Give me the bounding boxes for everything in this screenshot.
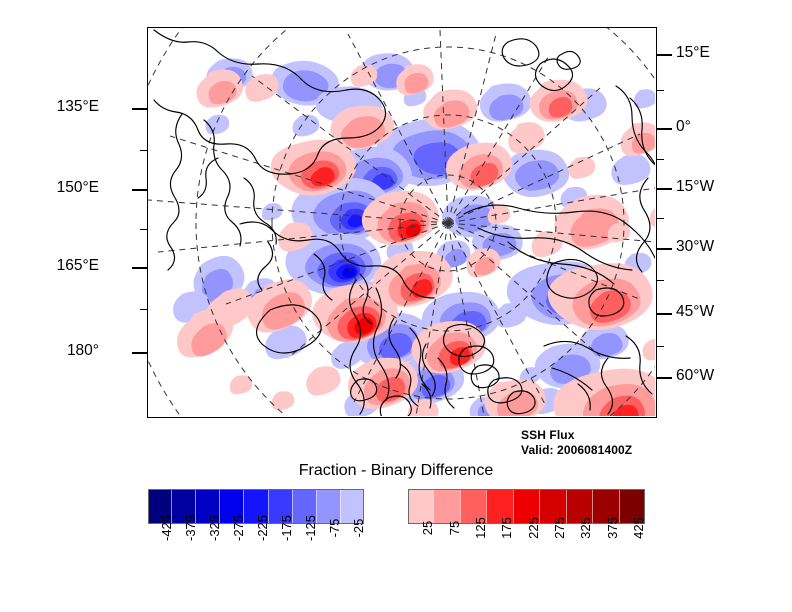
colorbar-positive-tick-7: 375: [606, 517, 619, 539]
colorbar: [148, 489, 645, 524]
axis-tick-right-0: [657, 54, 672, 56]
colorbar-negative-tick-4: -225: [256, 515, 269, 541]
axis-label-left-150e: 150°E: [57, 180, 99, 196]
colorbar-positive-tick-2: 125: [474, 517, 487, 539]
axis-label-right-60w: 60°W: [676, 368, 714, 384]
colorbar-positive-swatch-0: [408, 489, 433, 524]
axis-label-left-165e: 165°E: [57, 258, 99, 274]
colorbar-positive-tick-3: 175: [500, 517, 513, 539]
axis-tick-right-3: [657, 248, 672, 250]
figure-root: 135°E 150°E 165°E 180° 15°E 0° 15°W 30°W…: [0, 0, 792, 612]
figure-caption: Fraction - Binary Difference: [0, 462, 792, 480]
map-svg: [148, 28, 655, 416]
axis-tick-minor-left-2: [140, 309, 147, 310]
axis-tick-left-1: [132, 189, 147, 191]
colorbar-tick-labels: -425-375-325-275-225-175-125-75-25257512…: [148, 528, 645, 588]
axis-label-left-135e: 135°E: [57, 99, 99, 115]
colorbar-negative-tick-8: -25: [352, 519, 365, 538]
axis-label-right-30w: 30°W: [676, 239, 714, 255]
colorbar-positive-tick-0: 25: [421, 521, 434, 535]
colorbar-negative-tick-6: -125: [304, 515, 317, 541]
colorbar-positive-tick-8: 425: [632, 517, 645, 539]
field-annotation: SSH Flux Valid: 2006081400Z: [521, 428, 632, 458]
axis-tick-right-2: [657, 188, 672, 190]
colorbar-negative-tick-7: -75: [328, 519, 341, 538]
axis-tick-right-5: [657, 377, 672, 379]
field-name: SSH Flux: [521, 428, 632, 443]
colorbar-negative-tick-5: -175: [280, 515, 293, 541]
axis-tick-minor-right-0: [657, 90, 664, 91]
colorbar-positive-swatch-1: [433, 489, 459, 524]
colorbar-positive-tick-1: 75: [448, 521, 461, 535]
colorbar-positive-tick-5: 275: [553, 517, 566, 539]
axis-tick-minor-left-0: [140, 150, 147, 151]
axis-label-right-15e: 15°E: [676, 45, 710, 61]
axis-tick-minor-right-3: [657, 280, 664, 281]
axis-tick-left-2: [132, 267, 147, 269]
map-panel: [147, 27, 657, 418]
axis-tick-right-1: [657, 128, 672, 130]
colorbar-negative-tick-1: -375: [184, 515, 197, 541]
axis-label-right-0: 0°: [676, 119, 691, 135]
axis-tick-left-0: [132, 108, 147, 110]
map-canvas: [148, 28, 656, 417]
colorbar-positive-tick-4: 225: [527, 517, 540, 539]
axis-tick-minor-left-1: [140, 229, 147, 230]
valid-time: Valid: 2006081400Z: [521, 443, 632, 458]
axis-tick-minor-right-1: [657, 159, 664, 160]
colorbar-negative-tick-3: -275: [232, 515, 245, 541]
axis-tick-minor-right-4: [657, 346, 664, 347]
axis-tick-right-4: [657, 313, 672, 315]
colorbar-positive-tick-6: 325: [579, 517, 592, 539]
colorbar-negative-tick-2: -325: [208, 515, 221, 541]
axis-tick-left-3: [132, 352, 147, 354]
axis-label-right-45w: 45°W: [676, 304, 714, 320]
axis-label-right-15w: 15°W: [676, 179, 714, 195]
colorbar-negative-tick-0: -425: [160, 515, 173, 541]
axis-tick-minor-right-2: [657, 218, 664, 219]
axis-label-left-180: 180°: [67, 343, 99, 359]
